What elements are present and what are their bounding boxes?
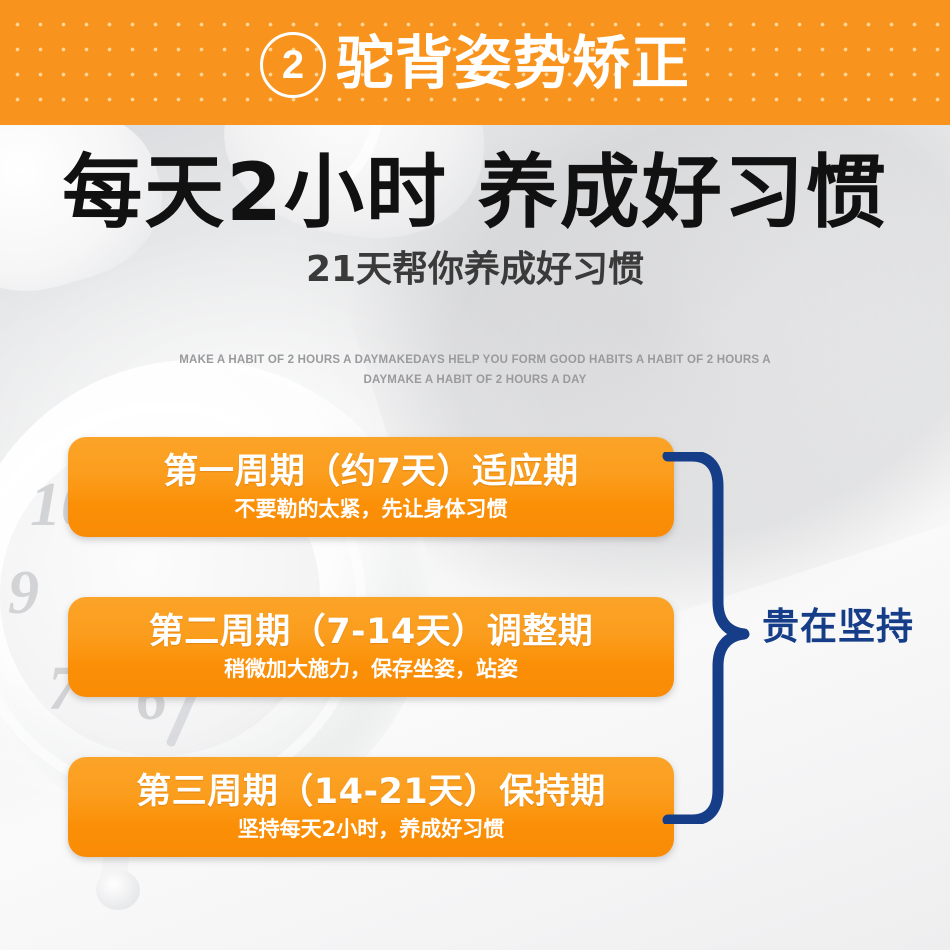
phase-card-subtitle: 不要勒的太紧，先让身体习惯: [235, 498, 508, 521]
phase-card-list: 第一周期（约7天）适应期 不要勒的太紧，先让身体习惯 第二周期（7-14天）调整…: [68, 437, 674, 857]
phase-card-1[interactable]: 第一周期（约7天）适应期 不要勒的太紧，先让身体习惯: [68, 437, 674, 537]
header-title-group: 2 驼背姿势矫正: [0, 0, 950, 125]
phase-card-2[interactable]: 第二周期（7-14天）调整期 稍微加大施力，保存坐姿，站姿: [68, 597, 674, 697]
hero-block: 每天2小时 养成好习惯 21天帮你养成好习惯 MAKE A HABIT OF 2…: [0, 150, 950, 288]
header-title-text: 驼背姿势矫正: [336, 34, 690, 92]
curly-brace-icon: [662, 452, 772, 824]
phase-card-subtitle: 坚持每天2小时，养成好习惯: [238, 818, 505, 841]
alarm-foot-tip: [96, 870, 140, 910]
section-number-badge: 2: [260, 32, 326, 98]
phase-card-title: 第二周期（7-14天）调整期: [149, 613, 594, 652]
phase-card-title: 第三周期（14-21天）保持期: [136, 773, 605, 812]
phase-card-subtitle: 稍微加大施力，保存坐姿，站姿: [224, 658, 518, 681]
header-bar: 2 驼背姿势矫正: [0, 0, 950, 125]
hero-english-caption: MAKE A HABIT OF 2 HOURS A DAYMAKEDAYS HE…: [170, 350, 780, 390]
section-number-text: 2: [282, 45, 304, 85]
poster-root: 10 9 7 6 2 驼背姿势矫正 每天2小时 养成好习惯 21天帮你养成好习惯…: [0, 0, 950, 950]
phase-card-title: 第一周期（约7天）适应期: [163, 453, 578, 492]
clock-number-9: 9: [8, 558, 39, 629]
brace-label: 贵在坚持: [762, 608, 914, 645]
hero-headline: 每天2小时 养成好习惯: [0, 150, 950, 236]
phase-card-3[interactable]: 第三周期（14-21天）保持期 坚持每天2小时，养成好习惯: [68, 757, 674, 857]
hero-subheadline: 21天帮你养成好习惯: [0, 252, 950, 288]
